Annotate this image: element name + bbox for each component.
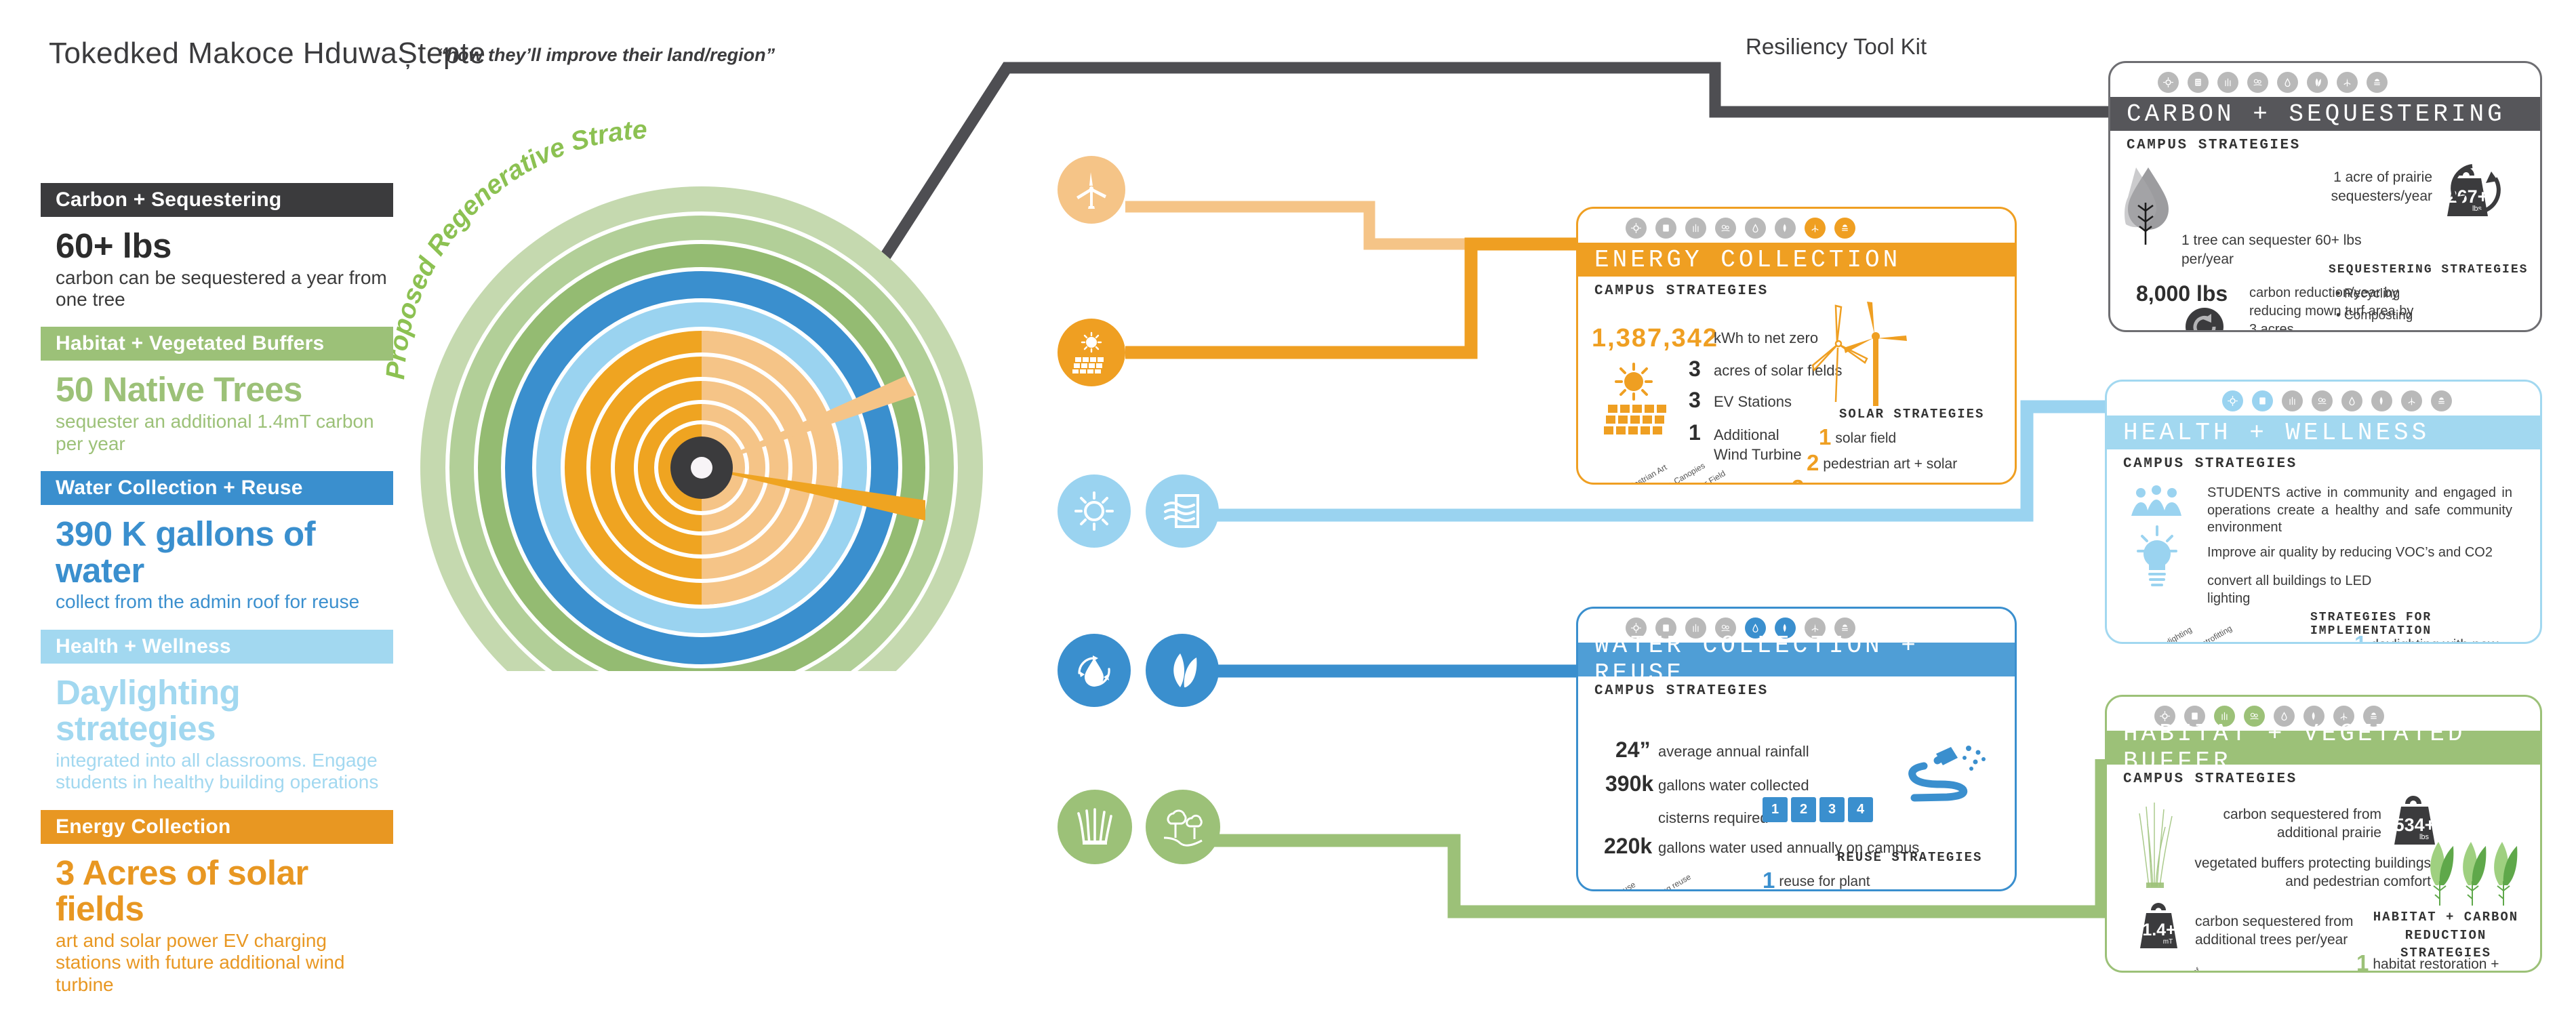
- card-health-wellness[interactable]: HEALTH + WELLNESS CAMPUS STRATEGIES STUD…: [2105, 380, 2542, 644]
- sun-mini-icon: [2158, 72, 2179, 93]
- legend-bar-carbon: Carbon + Sequestering: [41, 183, 393, 217]
- toolkit-title: Resiliency Tool Kit: [1746, 34, 1927, 60]
- scale-tick-0: LED + daylighting: [2133, 625, 2194, 644]
- energy-mini-icon: [1655, 218, 1676, 239]
- carbon-stat-2-number: 8,000 lbs: [2136, 281, 2228, 306]
- section-head-campus-strategies: CAMPUS STRATEGIES: [2123, 771, 2527, 787]
- legend-desc-health: integrated into all classrooms. Engage s…: [56, 750, 393, 794]
- hose-sprinkler-icon: [1904, 744, 1998, 819]
- card-icon-row: [2110, 63, 2540, 97]
- wind-turbine-icon: [1070, 168, 1113, 211]
- legend-desc-energy: art and solar power EV charging stations…: [56, 930, 393, 996]
- node-sun-daylight[interactable]: [1058, 474, 1131, 548]
- energy-stat-0-text: kWh to net zero: [1714, 329, 1818, 347]
- page-title: Tokedked Makoce HduwaȘtepte: [49, 37, 486, 70]
- card-title-water: WATER COLLECTION + REUSE: [1578, 643, 2015, 676]
- node-solar-panel[interactable]: [1058, 319, 1125, 386]
- legend-stat-habitat: 50 Native Trees: [56, 371, 393, 408]
- scale-tick-1: green roof: [2165, 966, 2201, 973]
- trees-habitat-icon: [1157, 801, 1209, 853]
- legend-item-habitat[interactable]: Habitat + Vegetated Buffers 50 Native Tr…: [41, 327, 393, 466]
- carbon-strategies-head: SEQUESTERING STRATEGIES: [2329, 263, 2528, 277]
- water-mini-icon: [2277, 72, 2298, 93]
- strategy-text: solar field: [1835, 427, 1896, 447]
- scale-tick-0: site reuse: [1602, 880, 1637, 891]
- health-line-0: STUDENTS active in community and engaged…: [2207, 485, 2512, 537]
- card-title-energy: ENERGY COLLECTION: [1578, 243, 2015, 277]
- water-stat-0-text: average annual rainfall: [1658, 743, 1809, 761]
- weight-badge-1.4: 1.4+ mT: [2134, 900, 2188, 956]
- strategy-text: pedestrian art + solar: [1823, 453, 1957, 472]
- cistern-2: 2: [1791, 797, 1816, 822]
- health-strategy-1: 1 daylighting with new construction: [2354, 634, 2517, 644]
- legend-desc-habitat: sequester an additional 1.4mT carbon per…: [56, 411, 393, 455]
- legend-stat-energy: 3 Acres of solar fields: [56, 855, 393, 927]
- radial-strategy-diagram: [417, 102, 986, 671]
- energy-stat-2-text: EV Stations: [1714, 393, 1792, 411]
- legend-stat-carbon: 60+ lbs: [56, 228, 393, 264]
- card-icon-row: [1578, 209, 2015, 243]
- prairie-grass-icon: [1070, 803, 1119, 851]
- carbon-mini-icon: [2367, 72, 2388, 93]
- strategy-text: daylighting with new construction: [2371, 634, 2517, 644]
- habitat-stat-2-text: carbon sequestered from additional trees…: [2195, 912, 2378, 950]
- energy-strategy-3: 3 pv + canopies in the landscape: [1792, 478, 1992, 485]
- scale-tick-0: habitat: [2133, 972, 2159, 973]
- energy-strategy-2: 2 pedestrian art + solar: [1807, 453, 1992, 473]
- node-daylight-window[interactable]: [1146, 474, 1219, 548]
- section-head-campus-strategies: CAMPUS STRATEGIES: [2127, 138, 2527, 153]
- legend-stat-health: Daylighting strategies: [56, 674, 393, 747]
- habitat-mini-icon: [2217, 72, 2238, 93]
- weight-badge-534-value: 534+: [2394, 815, 2436, 835]
- legend-item-health[interactable]: Health + Wellness Daylighting strategies…: [41, 630, 393, 806]
- solar-panel-icon: [1069, 330, 1114, 375]
- card-title-health: HEALTH + WELLNESS: [2107, 416, 2540, 449]
- leaf-mini-icon: [1775, 218, 1796, 239]
- energy-mini-icon: [2252, 390, 2273, 411]
- legend-bar-health: Health + Wellness: [41, 630, 393, 664]
- leaf-icon: [1159, 647, 1206, 694]
- scale-tick-0: Pedestrian Art: [1619, 462, 1668, 485]
- habitat-mini-icon: [1685, 218, 1706, 239]
- carbon-mini-icon: [2431, 390, 2452, 411]
- health-line-1: Improve air quality by reducing VOC’s an…: [2207, 544, 2512, 562]
- lightbulb-icon: [2131, 525, 2183, 593]
- prairie-grass-art: [2135, 797, 2177, 889]
- node-trees-habitat[interactable]: [1146, 790, 1220, 864]
- wind-mini-icon: [2337, 72, 2358, 93]
- list-item: • Composting: [2345, 308, 2535, 324]
- legend-desc-water: collect from the admin roof for reuse: [56, 591, 393, 613]
- section-head-campus-strategies: CAMPUS STRATEGIES: [2123, 456, 2527, 472]
- leaf-mini-icon: [2371, 390, 2392, 411]
- node-prairie-grass[interactable]: [1058, 790, 1132, 864]
- water-mini-icon: [1745, 218, 1766, 239]
- strategy-text: pv + canopies in the landscape: [1808, 478, 1992, 485]
- node-water-recycle[interactable]: [1058, 634, 1131, 707]
- wind-mini-icon: [1805, 218, 1826, 239]
- health-line-2: convert all buildings to LED lighting: [2207, 573, 2397, 607]
- energy-stat-1-number: 3: [1689, 357, 1701, 382]
- water-stat-1-text: gallons water collected: [1658, 777, 1809, 794]
- carbon-mini-icon: [1834, 218, 1855, 239]
- cistern-3: 3: [1819, 797, 1845, 822]
- card-title-carbon: CARBON + SEQUESTERING: [2110, 97, 2540, 131]
- leaf-mini-icon: [2307, 72, 2328, 93]
- section-head-campus-strategies: CAMPUS STRATEGIES: [1594, 683, 2001, 699]
- weight-badge-14-value: 1.4+: [2142, 920, 2175, 939]
- page-subtitle: “how they’ll improve their land/region”: [437, 45, 775, 66]
- habitat-impact-scale: habitat green roof implementation cost: [2120, 960, 2344, 973]
- strategy-number: 1: [2354, 634, 2367, 644]
- cistern-1: 1: [1763, 797, 1788, 822]
- legend-bar-habitat: Habitat + Vegetated Buffers: [41, 327, 393, 361]
- list-item: • Recycling: [2345, 287, 2535, 302]
- energy-strategy-1: 1 solar field: [1819, 427, 1992, 447]
- water-impact-scale: site reuse building reuse implementation…: [1590, 872, 1814, 891]
- students-group-icon: [2129, 485, 2184, 520]
- legend-stat-water: 390 K gallons of water: [56, 516, 393, 588]
- habitat-strategy-1: 1 habitat restoration + vegetated buffer: [2356, 953, 2526, 973]
- scale-tick-1: building reuse: [1644, 872, 1693, 891]
- list-item: • Choosing sustainable building material…: [2345, 330, 2535, 332]
- legend-item-carbon[interactable]: Carbon + Sequestering 60+ lbs carbon can…: [41, 183, 393, 323]
- sun-icon: [1070, 487, 1118, 535]
- energy-stat-3-text: Additional Wind Turbine: [1714, 426, 1802, 464]
- reduce-loop-icon: [2183, 306, 2226, 332]
- card-habitat-vegetated-buffer[interactable]: HABITAT + VEGETATED BUFFER CAMPUS STRATE…: [2105, 695, 2542, 973]
- infographic-canvas: Tokedked Makoce HduwaȘtepte “how they’ll…: [0, 0, 2576, 1000]
- energy-stat-3-number: 1: [1689, 420, 1701, 445]
- card-carbon-sequestering[interactable]: CARBON + SEQUESTERING CAMPUS STRATEGIES …: [2108, 61, 2542, 332]
- sun-solar-panel-icon: [1600, 361, 1676, 439]
- sun-mini-icon: [1626, 218, 1647, 239]
- water-mini-icon: [2341, 390, 2362, 411]
- wind-turbines-art: [1809, 300, 1931, 422]
- habitat-stat-0-text: carbon sequestered from additional prair…: [2198, 805, 2381, 843]
- energy-impact-scale: Pedestrian Art PV + Canopies Solar Field: [1592, 465, 1815, 485]
- legend-bar-water: Water Collection + Reuse: [41, 471, 393, 505]
- water-recycle-icon: [1070, 646, 1119, 695]
- card-water-collection-reuse[interactable]: WATER COLLECTION + REUSE CAMPUS STRATEGI…: [1576, 607, 2017, 891]
- wind-mini-icon: [2401, 390, 2422, 411]
- energy-mini-icon: [2188, 72, 2209, 93]
- weight-badge-14-unit: mT: [2163, 938, 2173, 946]
- node-wind-turbine[interactable]: [1058, 156, 1125, 224]
- health-impact-scale: LED + daylighting building retrofitting …: [2122, 631, 2346, 644]
- cistern-4: 4: [1848, 797, 1873, 822]
- daylight-window-icon: [1159, 487, 1206, 535]
- strategy-text: habitat restoration + vegetated buffer: [2373, 953, 2526, 973]
- strategy-number: 1: [2356, 953, 2369, 973]
- legend-item-water[interactable]: Water Collection + Reuse 390 K gallons o…: [41, 471, 393, 626]
- water-stat-1-number: 390k: [1605, 771, 1653, 796]
- carbon-stat-0-text: 1 acre of prairie sequesters/year: [2256, 168, 2432, 207]
- energy-stat-2-number: 3: [1689, 388, 1701, 413]
- section-head-campus-strategies: CAMPUS STRATEGIES: [1594, 283, 2001, 299]
- tree-drop-icon: [2122, 163, 2188, 251]
- water-stat-2-text: cisterns required: [1658, 809, 1769, 827]
- legend-desc-carbon: carbon can be sequestered a year from on…: [56, 267, 393, 311]
- card-energy-collection[interactable]: ENERGY COLLECTION CAMPUS STRATEGIES 1,38…: [1576, 207, 2017, 485]
- buffer-mini-icon: [2247, 72, 2268, 93]
- habitat-stat-1-text: vegetated buffers protecting buildings a…: [2187, 854, 2431, 891]
- habitat-mini-icon: [2282, 390, 2303, 411]
- cistern-group: 1 2 3 4: [1763, 797, 1873, 822]
- legend-item-energy[interactable]: Energy Collection 3 Acres of solar field…: [41, 810, 393, 1009]
- energy-stat-0-number: 1,387,342: [1592, 324, 1718, 353]
- circular-arrows-icon: [2442, 158, 2509, 220]
- water-stat-0-number: 24”: [1615, 737, 1651, 763]
- energy-strategies-head: SOLAR STRATEGIES: [1839, 407, 1984, 422]
- node-leaf[interactable]: [1146, 634, 1219, 707]
- buffer-mini-icon: [1715, 218, 1736, 239]
- sun-mini-icon: [2222, 390, 2243, 411]
- trees-art: [2422, 838, 2524, 912]
- card-icon-row: [2107, 382, 2540, 416]
- strategy-number: 1: [1819, 427, 1831, 447]
- water-stat-3-number: 220k: [1604, 834, 1652, 859]
- legend-panel: Carbon + Sequestering 60+ lbs carbon can…: [41, 183, 393, 1012]
- card-title-habitat: HABITAT + VEGETATED BUFFER: [2107, 731, 2540, 765]
- legend-bar-energy: Energy Collection: [41, 810, 393, 844]
- carbon-strategy-list: • Recycling • Composting • Choosing sust…: [2334, 287, 2535, 332]
- buffer-mini-icon: [2312, 390, 2333, 411]
- water-strategies-head: REUSE STRATEGIES: [1837, 850, 1982, 865]
